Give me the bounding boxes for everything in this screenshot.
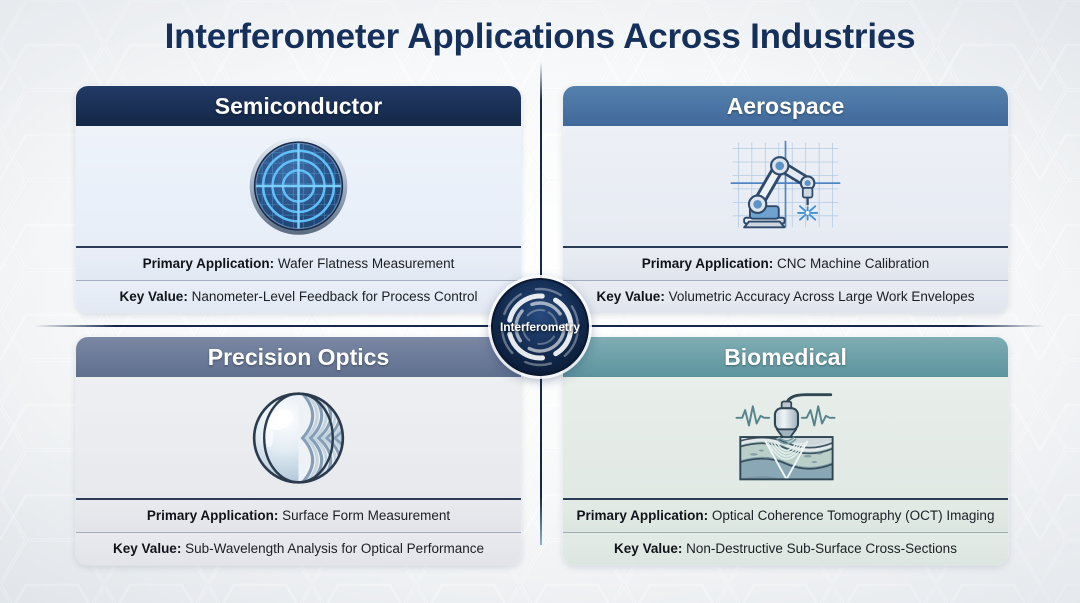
- primary-application-value: Wafer Flatness Measurement: [278, 256, 455, 271]
- key-value-label: Key Value:: [597, 289, 669, 304]
- key-value-value: Non-Destructive Sub-Surface Cross-Sectio…: [686, 541, 957, 556]
- key-value-label: Key Value:: [120, 289, 192, 304]
- key-value-row: Key Value: Volumetric Accuracy Across La…: [563, 280, 1008, 313]
- oct-probe-tissue-icon: [723, 384, 848, 492]
- primary-application-label: Primary Application:: [577, 508, 712, 523]
- primary-application-label: Primary Application:: [642, 256, 777, 271]
- quadrant-header-semiconductor: Semiconductor: [76, 86, 521, 126]
- quadrant-header-precision-optics: Precision Optics: [76, 337, 521, 377]
- primary-application-row: Primary Application: Wafer Flatness Meas…: [76, 246, 521, 280]
- quadrant-header-biomedical: Biomedical: [563, 337, 1008, 377]
- quadrant-header-aerospace: Aerospace: [563, 86, 1008, 126]
- primary-application-row: Primary Application: Optical Coherence T…: [563, 498, 1008, 532]
- primary-application-value: CNC Machine Calibration: [777, 256, 929, 271]
- hub-label: Interferometry: [491, 278, 589, 376]
- quadrant-rows-biomedical: Primary Application: Optical Coherence T…: [563, 498, 1008, 565]
- key-value-value: Sub-Wavelength Analysis for Optical Perf…: [185, 541, 484, 556]
- primary-application-label: Primary Application:: [143, 256, 278, 271]
- quadrant-illustration-precision-optics: [76, 377, 521, 498]
- quadrant-illustration-aerospace: [563, 126, 1008, 246]
- quadrant-card-semiconductor[interactable]: Semiconductor: [76, 86, 521, 313]
- key-value-label: Key Value:: [614, 541, 686, 556]
- primary-application-label: Primary Application:: [147, 508, 282, 523]
- quadrant-rows-semiconductor: Primary Application: Wafer Flatness Meas…: [76, 246, 521, 313]
- page-title: Interferometer Applications Across Indus…: [0, 17, 1080, 57]
- wafer-target-icon: [236, 132, 361, 240]
- quadrant-illustration-biomedical: [563, 377, 1008, 498]
- quadrant-card-aerospace[interactable]: Aerospace: [563, 86, 1008, 313]
- quadrant-card-precision-optics[interactable]: Precision Optics: [76, 337, 521, 565]
- primary-application-value: Surface Form Measurement: [282, 508, 450, 523]
- key-value-row: Key Value: Sub-Wavelength Analysis for O…: [76, 532, 521, 565]
- quadrant-rows-precision-optics: Primary Application: Surface Form Measur…: [76, 498, 521, 565]
- key-value-label: Key Value:: [113, 541, 185, 556]
- key-value-value: Nanometer-Level Feedback for Process Con…: [192, 289, 478, 304]
- key-value-row: Key Value: Non-Destructive Sub-Surface C…: [563, 532, 1008, 565]
- center-hub[interactable]: Interferometry: [491, 278, 589, 376]
- primary-application-row: Primary Application: Surface Form Measur…: [76, 498, 521, 532]
- lens-fringe-icon: [236, 384, 361, 492]
- key-value-value: Volumetric Accuracy Across Large Work En…: [669, 289, 975, 304]
- key-value-row: Key Value: Nanometer-Level Feedback for …: [76, 280, 521, 313]
- quadrant-illustration-semiconductor: [76, 126, 521, 246]
- quadrant-rows-aerospace: Primary Application: CNC Machine Calibra…: [563, 246, 1008, 313]
- quadrant-card-biomedical[interactable]: Biomedical: [563, 337, 1008, 565]
- robot-arm-icon: [723, 132, 848, 240]
- primary-application-row: Primary Application: CNC Machine Calibra…: [563, 246, 1008, 280]
- primary-application-value: Optical Coherence Tomography (OCT) Imagi…: [712, 508, 995, 523]
